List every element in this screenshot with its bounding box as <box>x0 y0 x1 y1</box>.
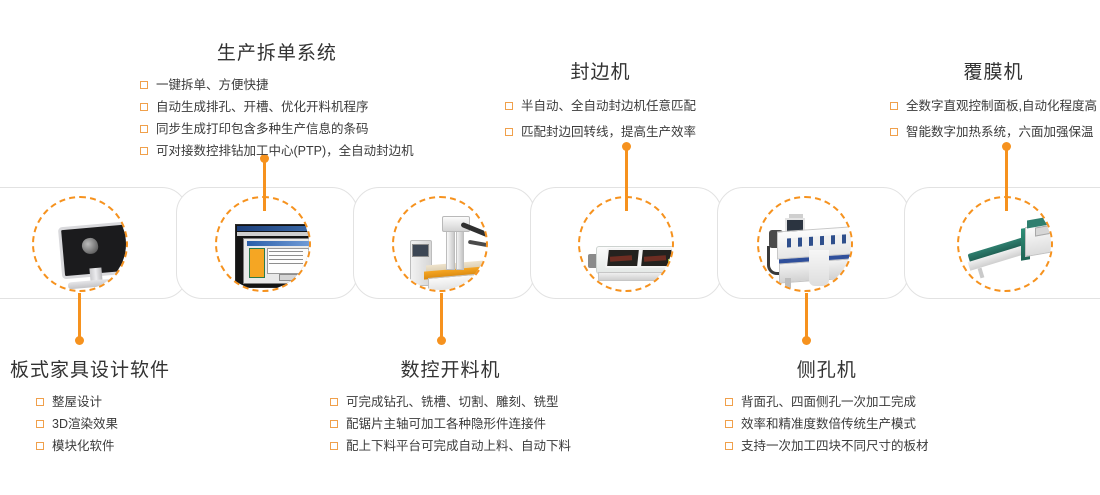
connector-dot <box>802 336 811 345</box>
connector-dot <box>437 336 446 345</box>
cnc-router-icon <box>394 198 486 290</box>
connector-dot <box>75 336 84 345</box>
square-bullet-icon <box>36 442 44 450</box>
list-item-label: 3D渲染效果 <box>52 413 118 435</box>
list-item: 配锯片主轴可加工各种隐形件连接件 <box>330 413 571 435</box>
list-item: 匹配封边回转线，提高生产效率 <box>505 119 696 145</box>
feature-list: 背面孔、四面侧孔一次加工完成 效率和精准度数倍传统生产模式 支持一次加工四块不同… <box>725 391 929 457</box>
square-bullet-icon <box>140 81 148 89</box>
block-heading: 板式家具设计软件 <box>10 355 170 382</box>
square-bullet-icon <box>140 125 148 133</box>
list-item-label: 可完成钻孔、铣槽、切割、雕刻、铣型 <box>346 391 559 413</box>
square-bullet-icon <box>36 420 44 428</box>
block-heading: 封边机 <box>505 57 696 84</box>
imac-monitor-icon <box>34 198 126 290</box>
square-bullet-icon <box>725 442 733 450</box>
node-edge-banding[interactable] <box>578 196 674 292</box>
node-laminating-machine[interactable] <box>957 196 1053 292</box>
list-item-label: 配上下料平台可完成自动上料、自动下料 <box>346 435 571 457</box>
list-item: 可对接数控排钻加工中心(PTP)，全自动封边机 <box>140 140 414 162</box>
edge-banding-machine-icon <box>580 198 672 290</box>
list-item: 智能数字加热系统，六面加强保温 <box>890 119 1097 145</box>
list-item: 自动生成排孔、开槽、优化开料机程序 <box>140 96 414 118</box>
square-bullet-icon <box>36 398 44 406</box>
node-cnc-router[interactable] <box>392 196 488 292</box>
feature-list: 整屋设计 3D渲染效果 模块化软件 <box>10 391 170 457</box>
list-item-label: 自动生成排孔、开槽、优化开料机程序 <box>156 96 369 118</box>
block-laminating: 覆膜机 全数字直观控制面板,自动化程度高 智能数字加热系统，六面加强保温 <box>890 57 1097 145</box>
list-item-label: 模块化软件 <box>52 435 115 457</box>
connector-down-design-software <box>78 293 81 341</box>
node-side-hole-drill[interactable] <box>757 196 853 292</box>
block-design-software: 板式家具设计软件 整屋设计 3D渲染效果 模块化软件 <box>10 355 170 457</box>
square-bullet-icon <box>725 398 733 406</box>
list-item-label: 整屋设计 <box>52 391 102 413</box>
list-item-label: 一键拆单、方便快捷 <box>156 74 269 96</box>
software-window-icon <box>217 198 309 290</box>
square-bullet-icon <box>725 420 733 428</box>
connector-down-side-hole <box>805 293 808 341</box>
square-bullet-icon <box>330 420 338 428</box>
list-item-label: 背面孔、四面侧孔一次加工完成 <box>741 391 916 413</box>
list-item: 3D渲染效果 <box>36 413 170 435</box>
feature-list: 全数字直观控制面板,自动化程度高 智能数字加热系统，六面加强保温 <box>890 93 1097 145</box>
feature-list: 可完成钻孔、铣槽、切割、雕刻、铣型 配锯片主轴可加工各种隐形件连接件 配上下料平… <box>330 391 571 457</box>
list-item: 整屋设计 <box>36 391 170 413</box>
node-production-split-system[interactable] <box>215 196 311 292</box>
block-heading: 生产拆单系统 <box>140 38 414 65</box>
list-item-label: 支持一次加工四块不同尺寸的板材 <box>741 435 929 457</box>
list-item-label: 可对接数控排钻加工中心(PTP)，全自动封边机 <box>156 140 414 162</box>
list-item: 支持一次加工四块不同尺寸的板材 <box>725 435 929 457</box>
square-bullet-icon <box>140 147 148 155</box>
square-bullet-icon <box>890 102 898 110</box>
square-bullet-icon <box>140 103 148 111</box>
list-item-label: 匹配封边回转线，提高生产效率 <box>521 119 696 145</box>
list-item-label: 效率和精准度数倍传统生产模式 <box>741 413 916 435</box>
list-item: 一键拆单、方便快捷 <box>140 74 414 96</box>
connector-down-cnc-router <box>440 293 443 341</box>
square-bullet-icon <box>890 128 898 136</box>
block-heading: 覆膜机 <box>890 57 1097 84</box>
list-item-label: 智能数字加热系统，六面加强保温 <box>906 119 1094 145</box>
list-item: 背面孔、四面侧孔一次加工完成 <box>725 391 929 413</box>
workflow-diagram: 生产拆单系统 一键拆单、方便快捷 自动生成排孔、开槽、优化开料机程序 同步生成打… <box>0 0 1100 495</box>
feature-list: 一键拆单、方便快捷 自动生成排孔、开槽、优化开料机程序 同步生成打印包含多种生产… <box>140 74 414 162</box>
list-item: 半自动、全自动封边机任意匹配 <box>505 93 696 119</box>
node-design-software[interactable] <box>32 196 128 292</box>
list-item: 可完成钻孔、铣槽、切割、雕刻、铣型 <box>330 391 571 413</box>
list-item: 全数字直观控制面板,自动化程度高 <box>890 93 1097 119</box>
block-side-hole-machine: 侧孔机 背面孔、四面侧孔一次加工完成 效率和精准度数倍传统生产模式 支持一次加工… <box>725 355 929 457</box>
list-item-label: 半自动、全自动封边机任意匹配 <box>521 93 696 119</box>
square-bullet-icon <box>505 128 513 136</box>
block-heading: 侧孔机 <box>725 355 929 382</box>
list-item: 模块化软件 <box>36 435 170 457</box>
square-bullet-icon <box>505 102 513 110</box>
list-item: 同步生成打印包含多种生产信息的条码 <box>140 118 414 140</box>
laminating-machine-icon <box>959 198 1051 290</box>
side-hole-drilling-machine-icon <box>759 198 851 290</box>
list-item-label: 同步生成打印包含多种生产信息的条码 <box>156 118 369 140</box>
block-cnc-router: 数控开料机 可完成钻孔、铣槽、切割、雕刻、铣型 配锯片主轴可加工各种隐形件连接件… <box>330 355 571 457</box>
square-bullet-icon <box>330 442 338 450</box>
list-item-label: 配锯片主轴可加工各种隐形件连接件 <box>346 413 546 435</box>
block-production-split-system: 生产拆单系统 一键拆单、方便快捷 自动生成排孔、开槽、优化开料机程序 同步生成打… <box>140 38 414 162</box>
feature-list: 半自动、全自动封边机任意匹配 匹配封边回转线，提高生产效率 <box>505 93 696 145</box>
list-item-label: 全数字直观控制面板,自动化程度高 <box>906 93 1097 119</box>
block-edge-banding: 封边机 半自动、全自动封边机任意匹配 匹配封边回转线，提高生产效率 <box>505 57 696 145</box>
list-item: 效率和精准度数倍传统生产模式 <box>725 413 929 435</box>
block-heading: 数控开料机 <box>330 355 571 382</box>
list-item: 配上下料平台可完成自动上料、自动下料 <box>330 435 571 457</box>
square-bullet-icon <box>330 398 338 406</box>
